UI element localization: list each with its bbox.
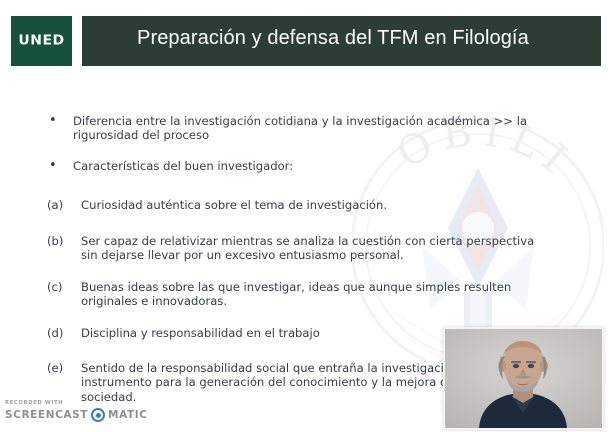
lettered-marker: (d) xyxy=(47,326,69,340)
bullet-text: Características del buen investigador: xyxy=(73,159,569,173)
lettered-item: (c) Buenas ideas sobre las que investiga… xyxy=(47,280,542,309)
slide-title-bar: Preparación y defensa del TFM en Filolog… xyxy=(82,16,601,66)
webcam-overlay[interactable] xyxy=(443,327,604,430)
bullet-item: • Características del buen investigador: xyxy=(49,159,569,173)
recorded-with-label: RECORDED WITH xyxy=(5,400,130,406)
slide-header: UNED Preparación y defensa del TFM en Fi… xyxy=(11,16,601,66)
lettered-marker: (a) xyxy=(47,198,69,212)
bullet-item: • Diferencia entre la investigación coti… xyxy=(49,114,569,143)
presentation-slide: OBILI UNED Preparación y defensa del TFM… xyxy=(0,0,608,432)
lettered-item: (b) Ser capaz de relativizar mientras se… xyxy=(47,234,547,263)
lettered-text: Curiosidad auténtica sobre el tema de in… xyxy=(81,198,567,212)
uned-logo: UNED xyxy=(11,16,72,66)
lettered-text: Buenas ideas sobre las que investigar, i… xyxy=(81,280,542,309)
lettered-text: Ser capaz de relativizar mientras se ana… xyxy=(81,234,547,263)
matic-label: MATIC xyxy=(108,409,148,421)
lettered-marker: (c) xyxy=(47,280,69,294)
screencast-o-matic-logo: SCREENCAST MATIC xyxy=(5,408,130,422)
lettered-marker: (b) xyxy=(47,234,69,248)
bullet-marker: • xyxy=(49,159,57,173)
record-dot-icon xyxy=(91,408,105,422)
uned-logo-text: UNED xyxy=(18,34,64,49)
bullet-text: Diferencia entre la investigación cotidi… xyxy=(73,114,569,143)
slide-title: Preparación y defensa del TFM en Filolog… xyxy=(137,27,529,50)
lettered-marker: (e) xyxy=(47,361,69,375)
screencast-o-matic-watermark: RECORDED WITH SCREENCAST MATIC xyxy=(5,400,130,428)
presenter-portrait xyxy=(445,329,602,428)
lettered-item: (a) Curiosidad auténtica sobre el tema d… xyxy=(47,198,567,212)
screencast-label: SCREENCAST xyxy=(5,409,88,421)
bullet-marker: • xyxy=(49,114,57,128)
